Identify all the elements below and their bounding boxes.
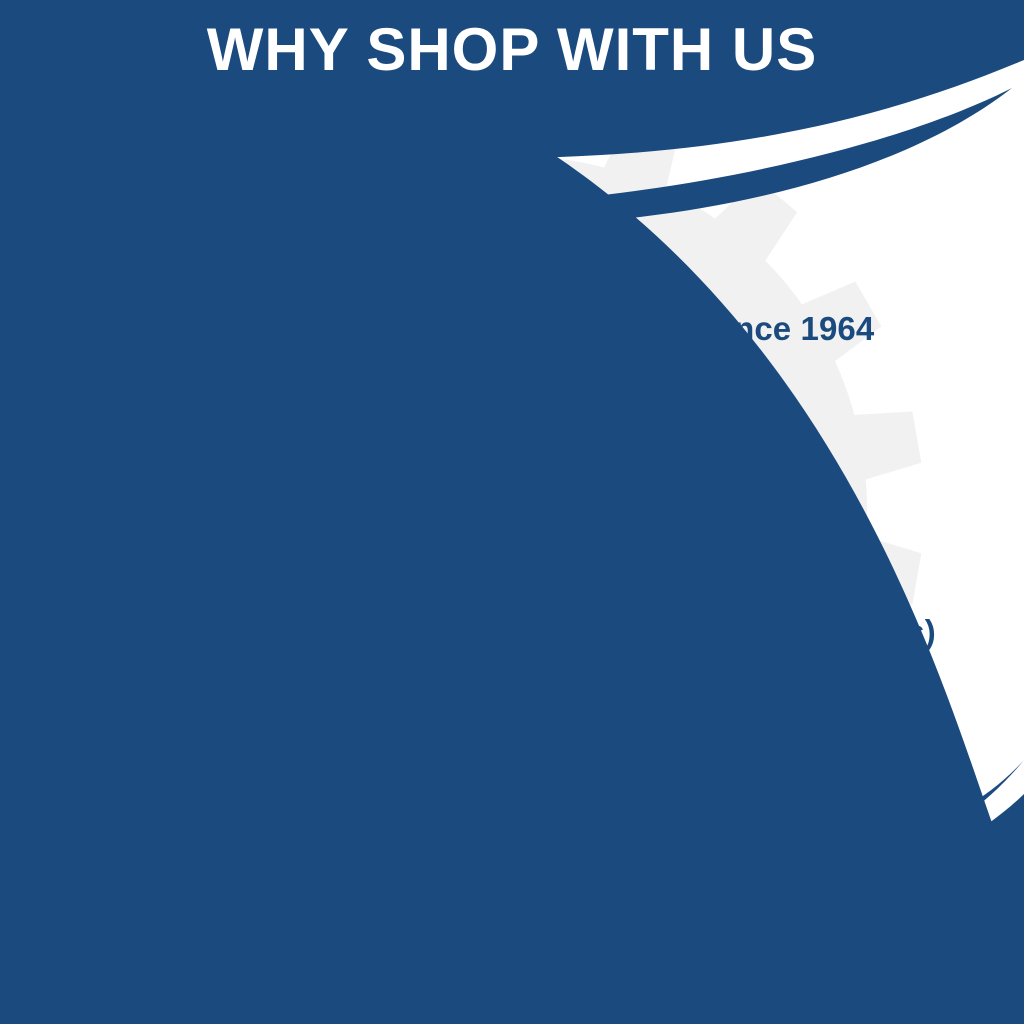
benefit-label: We Care — [249, 713, 381, 753]
benefit-label: Top Quality Products and Service — [249, 410, 778, 450]
curved-arrow-right-icon — [103, 301, 204, 356]
benefit-item: Family Owned and Operated since 1964 — [0, 278, 1024, 379]
curved-arrow-right-icon — [103, 402, 204, 457]
promo-banner: ESS WHY SHOP WITH US Family Owned and Op… — [0, 0, 1024, 1024]
top-swoosh-shape — [24, 88, 1012, 287]
benefit-label: Stellar Customer Service — [249, 511, 642, 551]
benefit-item: Stellar Customer Service — [0, 480, 1024, 581]
benefits-list: Family Owned and Operated since 1964 Top… — [0, 278, 1024, 783]
benefit-item: Super Fast Turnaround Times (24-48 hours… — [0, 581, 1024, 682]
benefit-item: Top Quality Products and Service — [0, 379, 1024, 480]
benefit-item: We Care — [0, 682, 1024, 783]
curved-arrow-right-icon — [103, 705, 204, 760]
bottom-band-shape-main — [0, 794, 1024, 1024]
benefit-label: Family Owned and Operated since 1964 — [249, 309, 874, 349]
curved-arrow-right-icon — [103, 503, 204, 558]
curved-arrow-right-icon — [103, 604, 204, 659]
page-title: WHY SHOP WITH US — [0, 16, 1024, 84]
benefit-label: Super Fast Turnaround Times (24-48 hours… — [249, 612, 936, 652]
bottom-swoosh-shape — [28, 760, 1024, 938]
